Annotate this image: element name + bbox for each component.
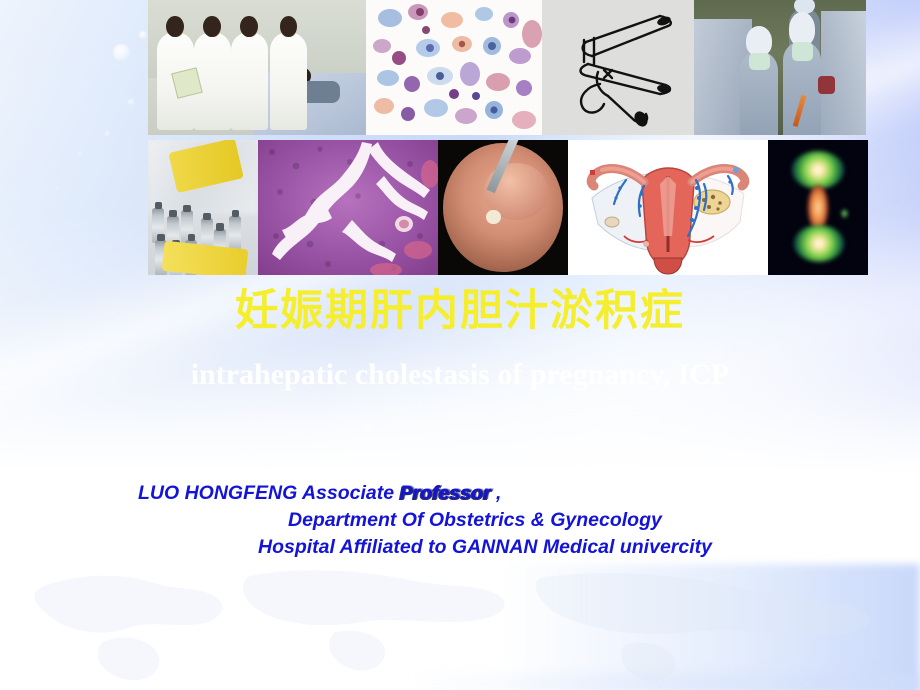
uterus-illustration bbox=[568, 140, 768, 275]
author-block: LUO HONGFENG Associate Professor , Depar… bbox=[0, 480, 920, 561]
vials-photo bbox=[148, 140, 258, 275]
fluorescence-photo bbox=[768, 140, 868, 275]
operating-theatre-photo bbox=[694, 0, 866, 135]
bubble-decoration bbox=[363, 424, 372, 433]
presentation-title-slide: 妊娠期肝内胆汁淤积症 intrahepatic cholestasis of p… bbox=[0, 0, 920, 690]
author-line-institution: Hospital Affiliated to GANNAN Medical un… bbox=[0, 534, 920, 561]
histology-photo bbox=[258, 140, 438, 275]
bubble-decoration bbox=[393, 424, 399, 430]
author-name-suffix: , bbox=[491, 482, 502, 504]
bubble-decoration bbox=[128, 99, 134, 105]
bubble-decoration bbox=[105, 131, 110, 136]
slide-title-chinese: 妊娠期肝内胆汁淤积症 bbox=[0, 290, 920, 333]
author-line-name-title: LUO HONGFENG Associate Professor , bbox=[0, 480, 920, 507]
bubble-decoration bbox=[139, 31, 147, 39]
author-title-emphasis: Professor bbox=[400, 480, 491, 507]
speculum-drawing-photo bbox=[542, 0, 694, 135]
photo-grid-row-bottom bbox=[148, 140, 868, 275]
slide-title-english: intrahepatic cholestasis of pregnancy, I… bbox=[0, 360, 920, 390]
bubble-decoration bbox=[78, 152, 82, 156]
bubble-decoration bbox=[113, 44, 130, 61]
photo-grid-row-top bbox=[148, 0, 868, 135]
author-name-prefix: LUO HONGFENG Associate bbox=[138, 482, 400, 504]
author-line-department: Department Of Obstetrics & Gynecology bbox=[0, 507, 920, 534]
cytology-smear-photo bbox=[366, 0, 542, 135]
colposcopy-photo bbox=[438, 140, 568, 275]
ward-round-photo bbox=[148, 0, 366, 135]
photo-grid bbox=[148, 0, 868, 275]
bubble-decoration bbox=[388, 410, 392, 414]
world-map-watermark bbox=[0, 558, 920, 690]
bubble-decoration bbox=[417, 404, 422, 409]
bubble-decoration bbox=[55, 186, 58, 189]
